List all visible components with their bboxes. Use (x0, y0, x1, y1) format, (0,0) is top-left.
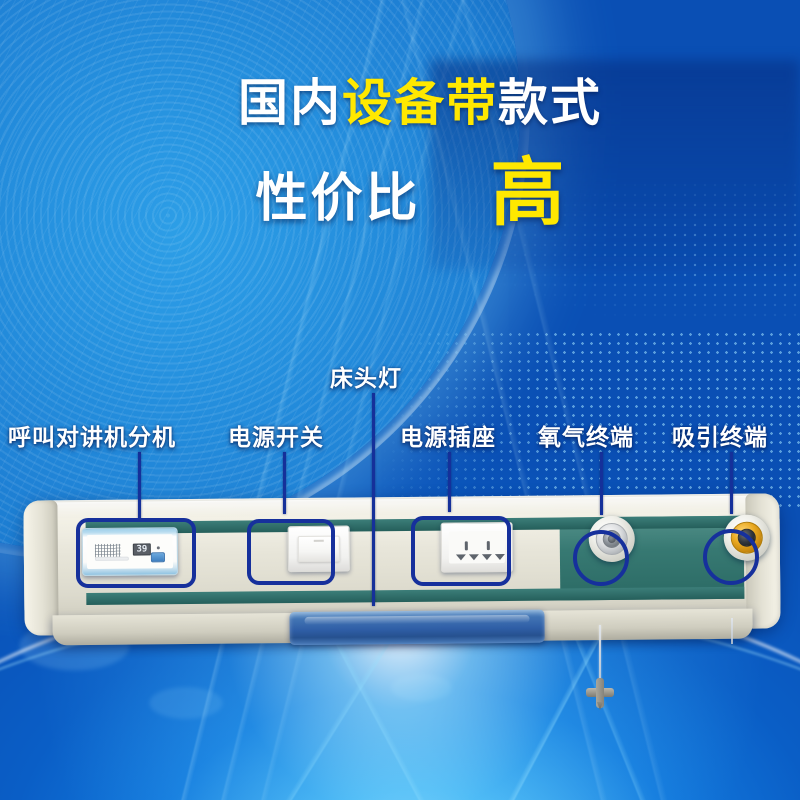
label-intercom: 呼叫对讲机分机 (8, 418, 176, 452)
label-bed-lamp: 床头灯 (330, 359, 402, 393)
callout-label-group: 呼叫对讲机分机 电源开关 床头灯 电源插座 氧气终端 吸引终端 (0, 0, 800, 800)
label-switch: 电源开关 (228, 418, 324, 452)
poster-stage: 国内设备带款式 性价比 高 呼叫对讲机分机 电源开关 床头灯 电源插座 氧气终端… (0, 0, 800, 800)
label-socket: 电源插座 (400, 418, 496, 452)
label-oxygen: 氧气终端 (538, 418, 634, 452)
label-suction: 吸引终端 (672, 418, 768, 452)
